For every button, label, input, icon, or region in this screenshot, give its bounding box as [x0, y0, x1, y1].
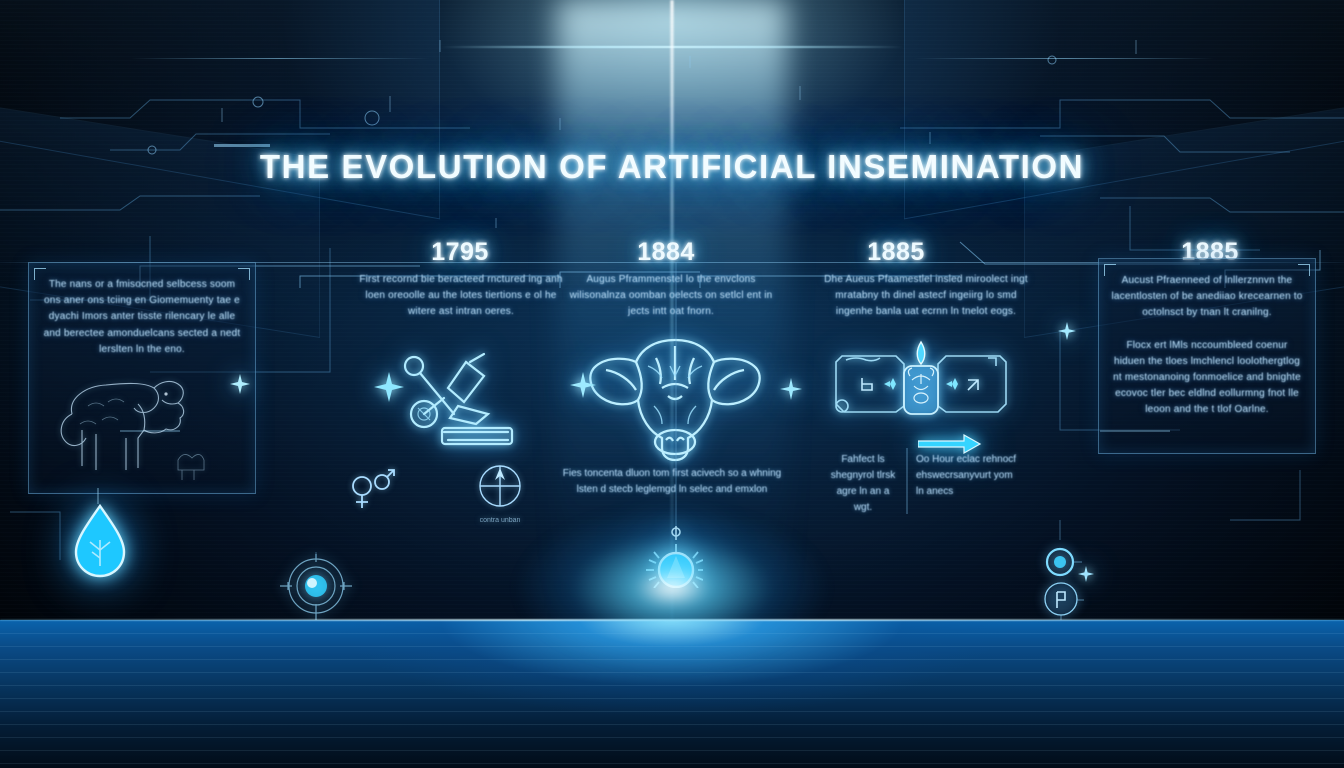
page-title: THE EVOLUTION OF ARTIFICIAL INSEMINATION	[260, 148, 1084, 186]
compass-icon: contra unban	[470, 456, 530, 528]
floor-scanlines	[0, 620, 1344, 768]
timeline-card-1884[interactable]: Augus Pframmenstel lo the envclons wilis…	[560, 272, 782, 321]
venus-mars-icon	[344, 464, 400, 520]
title-rule-left	[130, 58, 430, 59]
card-1885a-caption-right: Oo Hour eclac rehnocf ehswecrsanyvurt yo…	[916, 452, 1020, 500]
floor	[0, 620, 1344, 768]
droplet-icon[interactable]	[72, 500, 128, 580]
timeline-year-1795: 1795	[431, 238, 489, 267]
microscope-icon	[392, 348, 552, 460]
infographic-stage: THE EVOLUTION OF ARTIFICIAL INSEMINATION…	[0, 0, 1344, 768]
node-chip-b[interactable]	[1038, 576, 1084, 622]
title-rule-right	[914, 58, 1214, 59]
timeline-year-1884: 1884	[637, 238, 695, 267]
wall-panel-right-upper	[904, 0, 1344, 219]
card-1885a-text: Dhe Aueus Pfaamestlel insled miroolect i…	[818, 272, 1034, 321]
wall-panel-left-upper	[0, 0, 440, 219]
timeline-card-1795[interactable]: First recornd bie beracteed rnctured ing…	[352, 272, 570, 321]
timeline-card-1885a[interactable]: Dhe Aueus Pfaamestlel insled miroolect i…	[818, 272, 1034, 321]
cow-head-icon	[584, 332, 766, 462]
floor-horizon-edge	[0, 619, 1344, 621]
timeline-card-1885b[interactable]: Aucust Pfraenneed of lnllerznnvn the lac…	[1098, 258, 1316, 454]
timeline-year-1885-a: 1885	[867, 238, 925, 267]
card-intro-text: The nans or a fmisocned selbcess soom on…	[41, 277, 243, 358]
card-1885a-caption-left: Fahfect ls shegnyrol tlrsk agre ln an a …	[828, 452, 898, 516]
card-1885b-text-1: Aucust Pfraenneed of lnllerznnvn the lac…	[1111, 273, 1303, 322]
card-1884-text: Augus Pframmenstel lo the envclons wilis…	[560, 272, 782, 321]
card-1884-caption: Fies toncenta dluon tom first acivech so…	[562, 466, 782, 498]
caption-divider	[906, 448, 908, 514]
spark-icon-c	[780, 378, 802, 400]
flow-arrow-icon	[918, 434, 982, 454]
title-block: THE EVOLUTION OF ARTIFICIAL INSEMINATION	[0, 148, 1344, 186]
card-1885b-text-2: Flocx ert lMls nccoumbleed coenur hiduen…	[1111, 338, 1303, 419]
egg-reticle-icon[interactable]	[278, 552, 354, 628]
sheep-icon	[42, 372, 222, 484]
spark-icon-e	[1058, 322, 1076, 340]
sun-orb-icon[interactable]	[641, 526, 703, 588]
ceiling-light-bar	[440, 46, 904, 48]
card-1795-text: First recornd bie beracteed rnctured ing…	[352, 272, 570, 321]
compass-label: contra unban	[480, 517, 521, 524]
